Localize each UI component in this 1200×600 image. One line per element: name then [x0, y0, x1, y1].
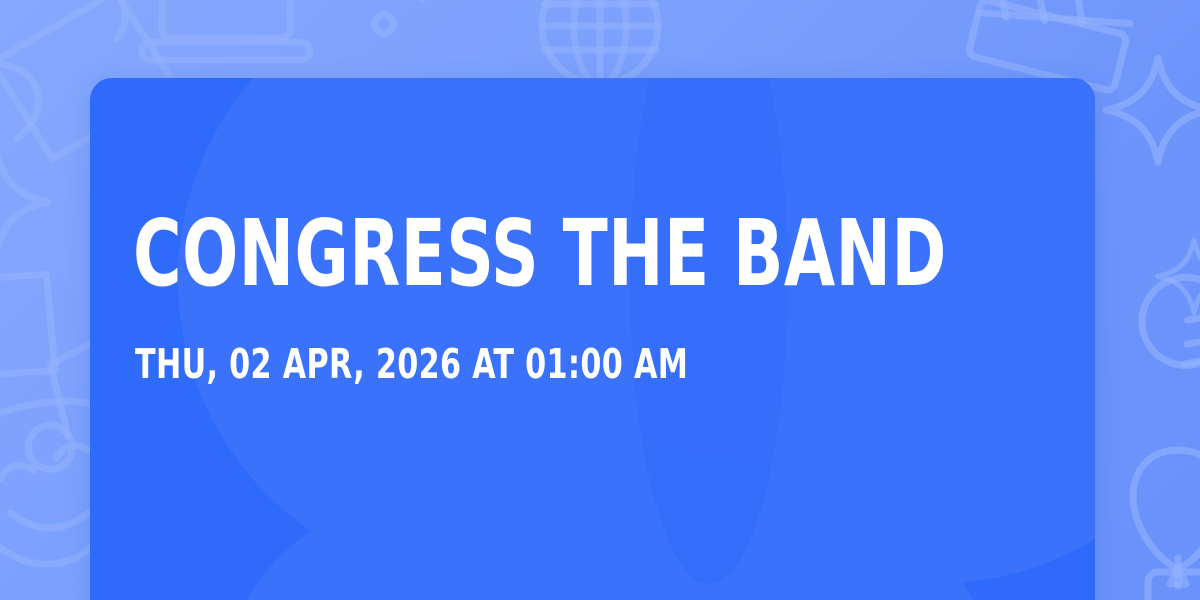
sparkle-icon	[0, 150, 48, 254]
ticket-icon	[0, 259, 68, 392]
decorative-circle-overlap	[630, 78, 788, 584]
laptop-icon	[142, 0, 310, 60]
calendar-icon	[1148, 558, 1200, 600]
decorative-circle-bottom	[230, 448, 990, 600]
sparkle-icon	[1106, 58, 1200, 162]
globe-icon	[542, 0, 658, 88]
sparkle-icon	[1158, 240, 1200, 313]
event-card: Congress the Band Thu, 02 Apr, 2026 at 0…	[90, 78, 1095, 600]
event-banner: Congress the Band Thu, 02 Apr, 2026 at 0…	[0, 0, 1200, 600]
confetti-icon	[375, 0, 427, 33]
event-datetime: Thu, 02 Apr, 2026 at 01:00 AM	[135, 344, 688, 385]
event-title: Congress the Band	[133, 208, 947, 300]
balloon-icon	[1133, 450, 1200, 584]
microphone-icon	[1124, 230, 1200, 426]
